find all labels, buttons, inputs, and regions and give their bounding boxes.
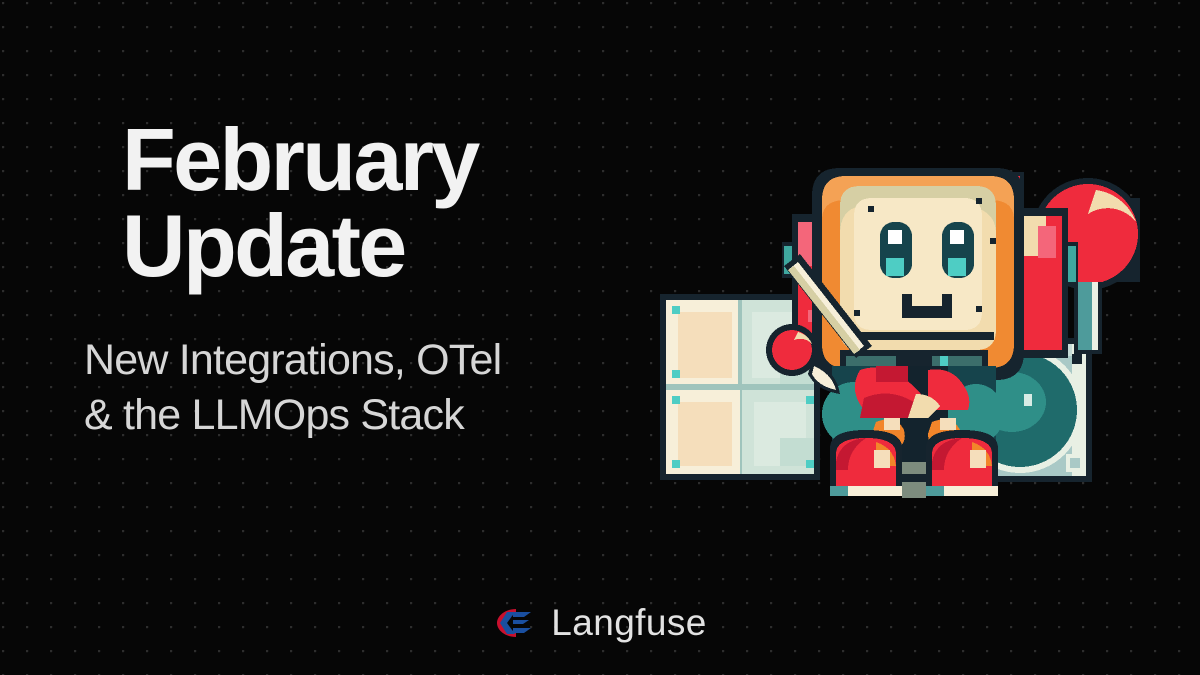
- page-title: February Update: [122, 117, 620, 289]
- langfuse-logo-icon: [493, 606, 535, 640]
- robot-head-graphic: [812, 168, 1024, 380]
- page-subtitle: New Integrations, OTel & the LLMOps Stac…: [84, 333, 620, 443]
- text-column: February Update New Integrations, OTel &…: [0, 0, 620, 560]
- mascot-illustration: [640, 118, 1140, 518]
- brand-wordmark: Langfuse: [551, 604, 706, 641]
- brand-lockup: Langfuse: [0, 604, 1200, 641]
- banner-canvas: February Update New Integrations, OTel &…: [0, 0, 1200, 675]
